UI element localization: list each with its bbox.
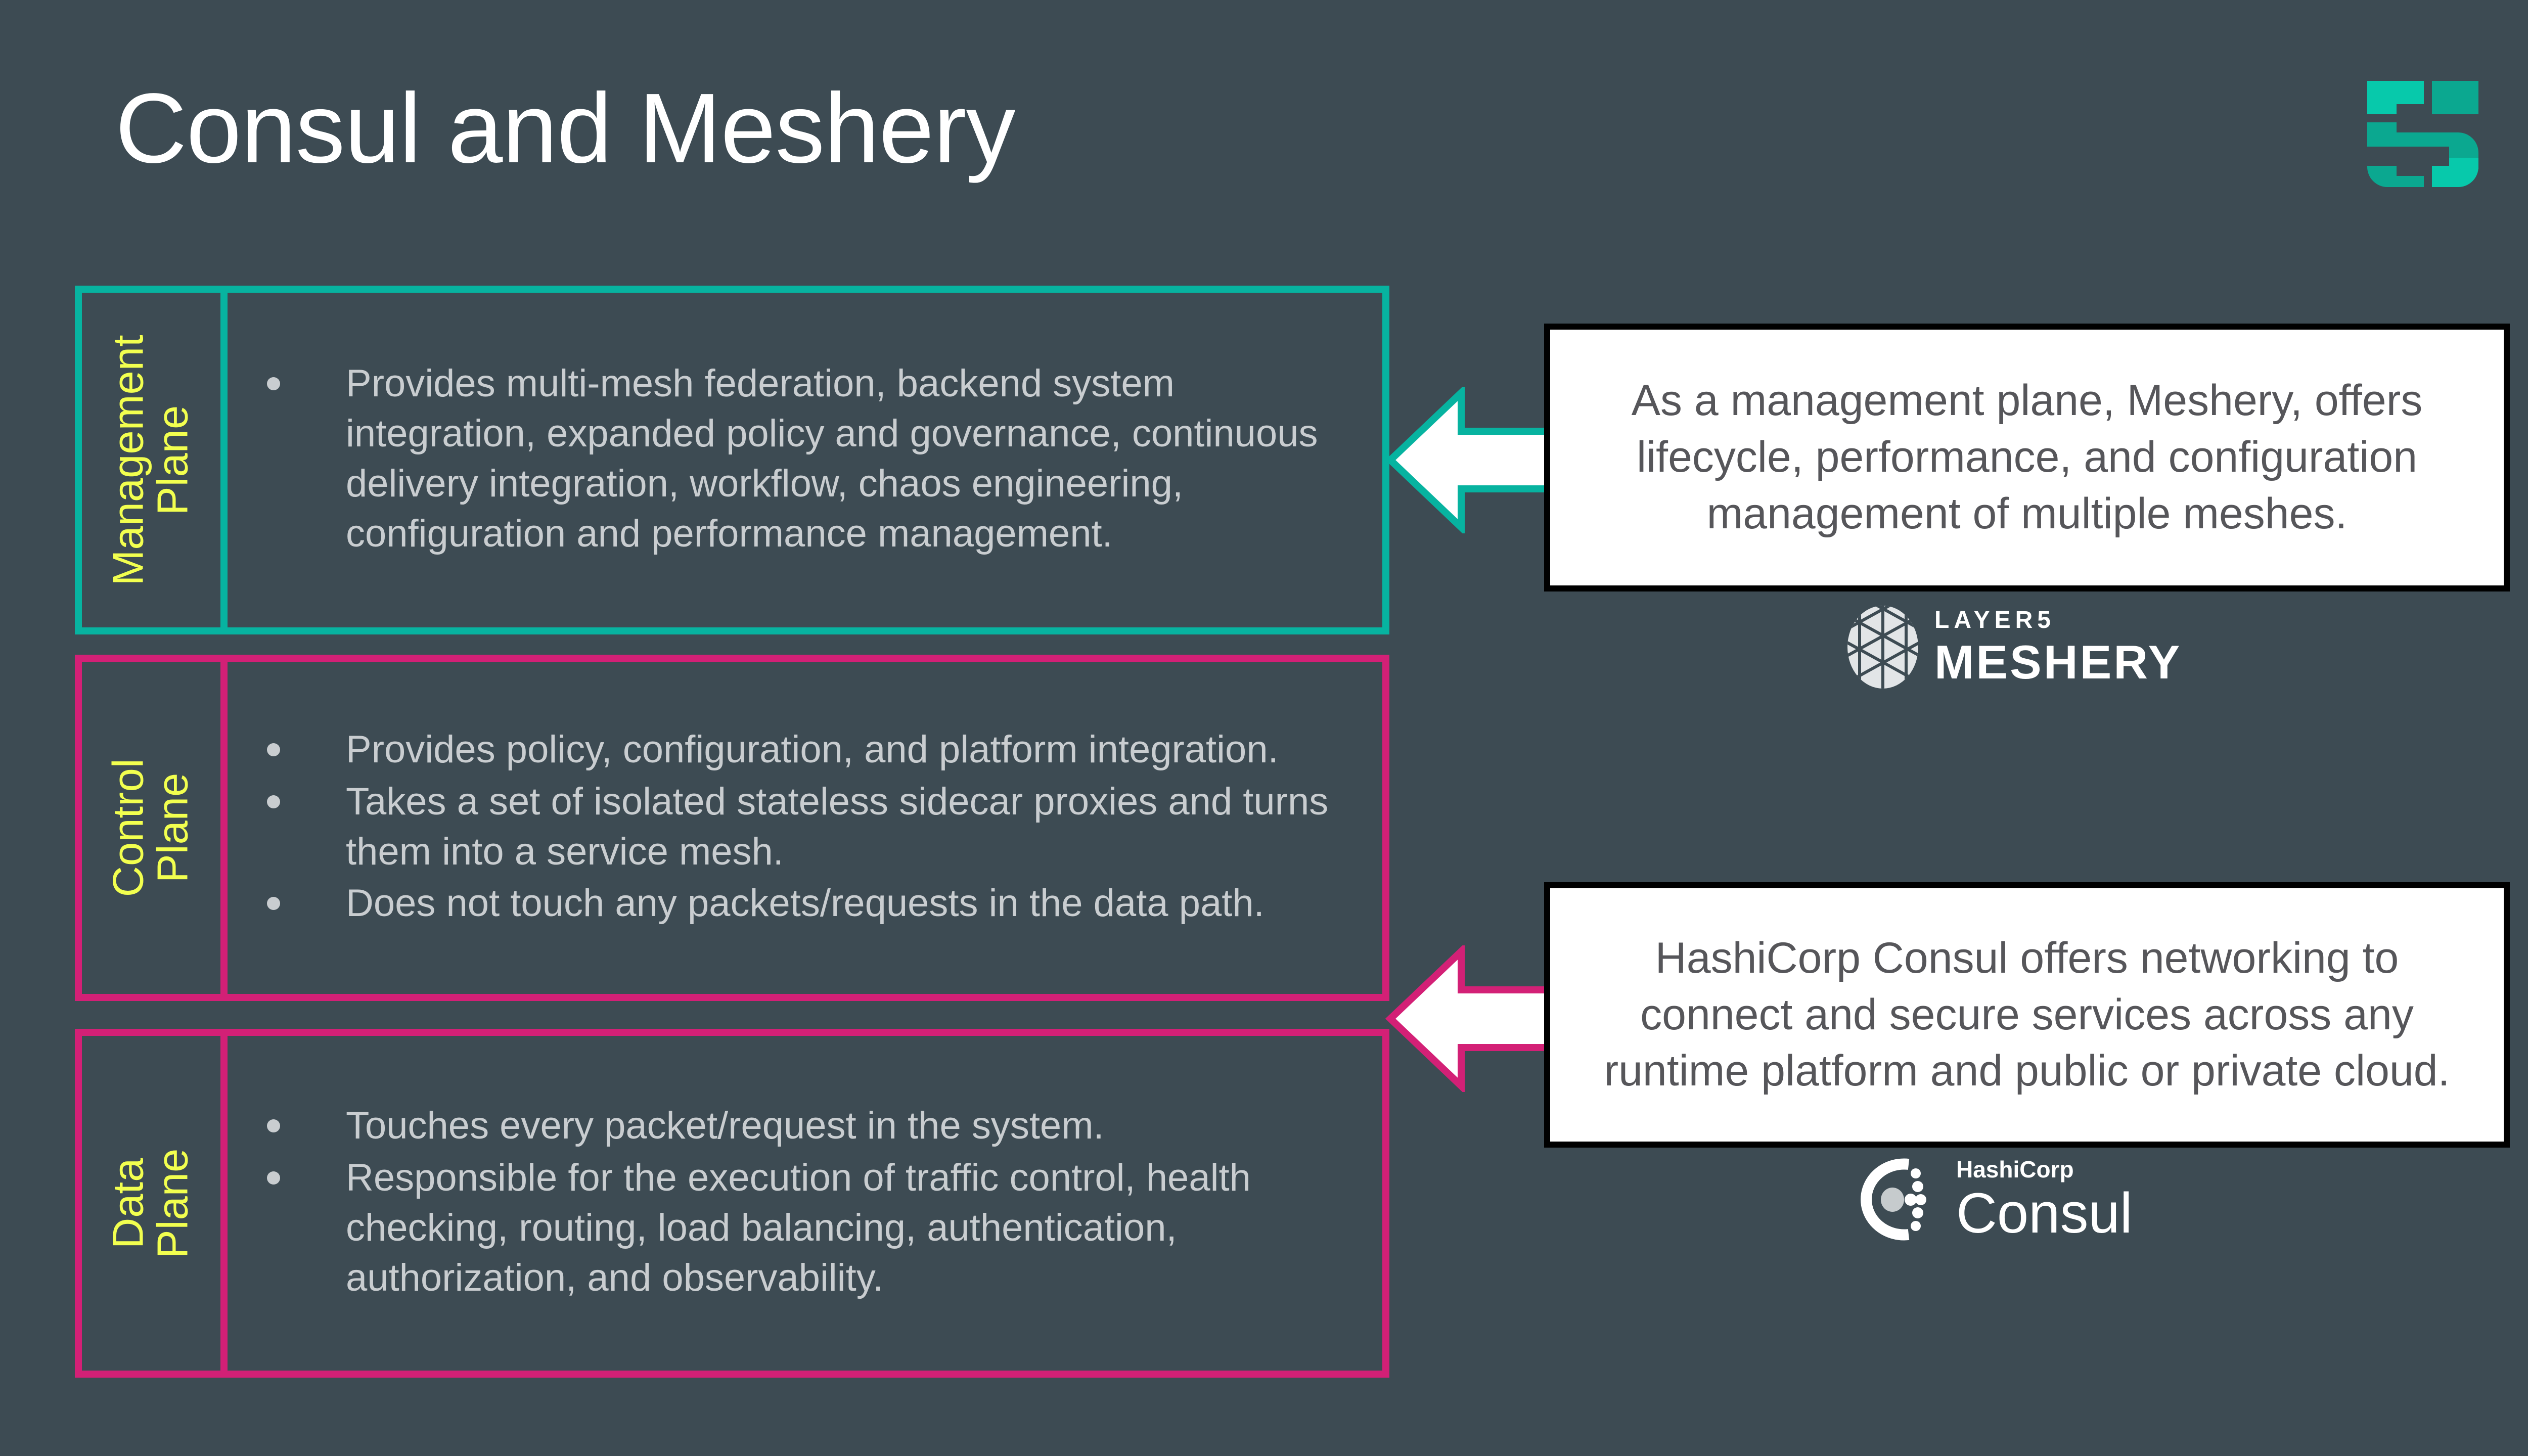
list-item: Provides multi-mesh federation, backend … xyxy=(251,359,1362,559)
arrow-left-consul-icon xyxy=(1385,945,1557,1092)
list-item: Does not touch any packets/requests in t… xyxy=(251,879,1362,929)
plane-label-data: Data Plane xyxy=(107,1148,196,1258)
consul-logo: HashiCorp Consul xyxy=(1858,1155,2133,1244)
plane-label-control: Control Plane xyxy=(107,758,196,897)
plane-body-control: Provides policy, configuration, and plat… xyxy=(220,655,1389,1001)
bullet-list-control: Provides policy, configuration, and plat… xyxy=(251,725,1362,931)
list-item: Provides policy, configuration, and plat… xyxy=(251,725,1362,775)
plane-label-box-data: Data Plane xyxy=(75,1029,220,1378)
plane-row-management: Management Plane Provides multi-mesh fed… xyxy=(75,286,1389,634)
meshery-layer5-wordmark: LAYER5 xyxy=(1934,608,2182,632)
list-item: Touches every packet/request in the syst… xyxy=(251,1101,1362,1151)
meshery-mesh-icon xyxy=(1845,604,1920,690)
plane-label-management: Management Plane xyxy=(107,335,196,585)
callout-consul-text: HashiCorp Consul offers networking to co… xyxy=(1573,930,2480,1100)
plane-label-line2: Plane xyxy=(151,758,196,897)
meshery-logo: LAYER5 MESHERY xyxy=(1845,604,2182,690)
callout-consul: HashiCorp Consul offers networking to co… xyxy=(1544,882,2510,1148)
layer5-logo-icon xyxy=(2362,76,2484,192)
slide-canvas: Consul and Meshery Management Plane Prov… xyxy=(0,0,2528,1456)
bullet-list-management: Provides multi-mesh federation, backend … xyxy=(251,359,1362,561)
plane-row-control: Control Plane Provides policy, configura… xyxy=(75,655,1389,1001)
plane-label-line2: Plane xyxy=(151,1148,196,1258)
plane-body-data: Touches every packet/request in the syst… xyxy=(220,1029,1389,1378)
page-title: Consul and Meshery xyxy=(115,76,1015,181)
plane-label-box-control: Control Plane xyxy=(75,655,220,1001)
list-item: Responsible for the execution of traffic… xyxy=(251,1153,1362,1303)
bullet-list-data: Touches every packet/request in the syst… xyxy=(251,1101,1362,1305)
plane-label-line1: Data xyxy=(105,1158,153,1249)
plane-label-line1: Management xyxy=(105,335,153,585)
callout-meshery: As a management plane, Meshery, offers l… xyxy=(1544,324,2510,591)
plane-label-line1: Control xyxy=(105,758,153,897)
consul-product-wordmark: Consul xyxy=(1956,1185,2133,1242)
list-item: Takes a set of isolated stateless sideca… xyxy=(251,777,1362,877)
plane-row-data: Data Plane Touches every packet/request … xyxy=(75,1029,1389,1378)
plane-label-box-management: Management Plane xyxy=(75,286,220,634)
plane-body-management: Provides multi-mesh federation, backend … xyxy=(220,286,1389,634)
plane-label-line2: Plane xyxy=(151,335,196,585)
meshery-wordmark: MESHERY xyxy=(1934,639,2182,686)
arrow-left-meshery-icon xyxy=(1385,387,1557,533)
callout-meshery-text: As a management plane, Meshery, offers l… xyxy=(1573,373,2480,542)
consul-mark-icon xyxy=(1858,1155,1939,1244)
consul-company-wordmark: HashiCorp xyxy=(1956,1158,2133,1181)
